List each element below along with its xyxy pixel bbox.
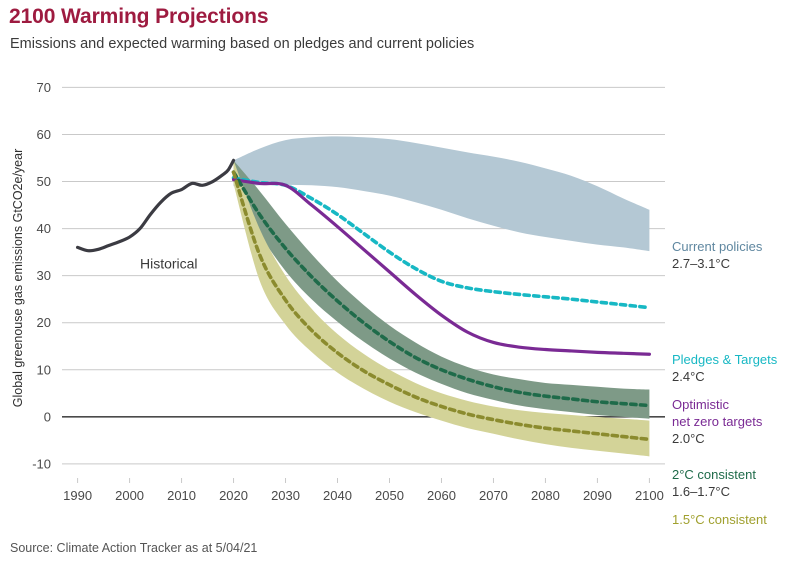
source-note: Source: Climate Action Tracker as at 5/0… (10, 541, 257, 555)
y-tick-label-20: 20 (37, 315, 51, 330)
y-axis-title: Global greenouse gas emissions GtCO2e/ye… (11, 149, 25, 407)
legend-value-1-5c-consistent: 1.3°C (672, 529, 705, 530)
x-tick-label-2020: 2020 (219, 488, 248, 503)
page-title: 2100 Warming Projections (9, 5, 268, 29)
legend-value-optimistic-net-zero: 2.0°C (672, 431, 705, 446)
legend-item-current-policies[interactable]: Current policies2.7–3.1°C (672, 239, 763, 271)
chart-annotations: Historical (140, 256, 198, 272)
legend-value-current-policies: 2.7–3.1°C (672, 256, 730, 271)
y-tick-label-0: 0 (44, 409, 51, 424)
legend-label2-optimistic-net-zero: net zero targets (672, 414, 763, 429)
x-axis-ticks: 1990200020102020203020402050206020702080… (63, 478, 664, 503)
legend-label-pledges-targets: Pledges & Targets (672, 352, 778, 367)
x-tick-label-2010: 2010 (167, 488, 196, 503)
y-tick-label-70: 70 (37, 80, 51, 95)
x-tick-label-2060: 2060 (427, 488, 456, 503)
legend-item-optimistic-net-zero[interactable]: Optimisticnet zero targets2.0°C (672, 397, 763, 446)
y-tick-label-10: 10 (37, 362, 51, 377)
y-tick-label-30: 30 (37, 268, 51, 283)
annotation-historical: Historical (140, 256, 198, 272)
x-tick-label-1990: 1990 (63, 488, 92, 503)
y-axis-title: Global greenouse gas emissions GtCO2e/ye… (11, 149, 25, 407)
x-tick-label-2100: 2100 (635, 488, 664, 503)
x-tick-label-2050: 2050 (375, 488, 404, 503)
legend-item-2c-consistent[interactable]: 2°C consistent1.6–1.7°C (672, 467, 756, 499)
line-historical (78, 160, 234, 250)
x-tick-label-2080: 2080 (531, 488, 560, 503)
y-tick-label--10: -10 (32, 456, 51, 471)
legend-value-pledges-targets: 2.4°C (672, 369, 705, 384)
page-subtitle: Emissions and expected warming based on … (10, 36, 474, 52)
y-axis-ticks: -10010203040506070 (32, 80, 51, 471)
x-tick-label-2070: 2070 (479, 488, 508, 503)
warming-projections-chart: -10010203040506070 199020002010202020302… (0, 60, 800, 530)
legend-item-1-5c-consistent[interactable]: 1.5°C consistent1.3°C (672, 512, 767, 530)
chart-page: 2100 Warming Projections Emissions and e… (0, 0, 800, 578)
x-tick-label-2000: 2000 (115, 488, 144, 503)
y-tick-label-60: 60 (37, 127, 51, 142)
x-tick-label-2090: 2090 (583, 488, 612, 503)
legend-label-current-policies: Current policies (672, 239, 763, 254)
legend-label-1-5c-consistent: 1.5°C consistent (672, 512, 767, 527)
x-tick-label-2030: 2030 (271, 488, 300, 503)
legend: Current policies2.7–3.1°CPledges & Targe… (672, 239, 778, 530)
y-tick-label-50: 50 (37, 174, 51, 189)
chart-container: -10010203040506070 199020002010202020302… (0, 60, 800, 530)
legend-item-pledges-targets[interactable]: Pledges & Targets2.4°C (672, 352, 778, 384)
legend-label-optimistic-net-zero: Optimistic (672, 397, 730, 412)
x-tick-label-2040: 2040 (323, 488, 352, 503)
legend-label-2c-consistent: 2°C consistent (672, 467, 756, 482)
legend-value-2c-consistent: 1.6–1.7°C (672, 484, 730, 499)
y-tick-label-40: 40 (37, 221, 51, 236)
